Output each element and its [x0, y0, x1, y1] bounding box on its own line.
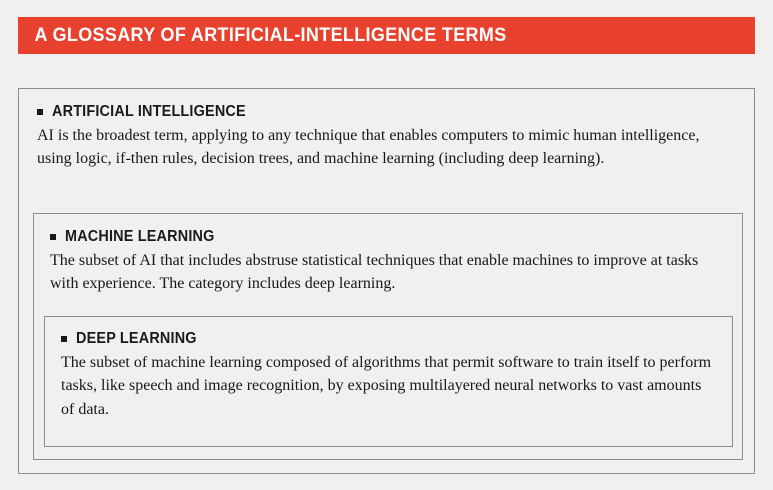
machine-learning-description: The subset of AI that includes abstruse …	[50, 249, 722, 296]
square-bullet-icon	[50, 234, 56, 240]
artificial-intelligence-description: AI is the broadest term, applying to any…	[37, 124, 737, 171]
deep-learning-entry: Deep Learning The subset of machine lear…	[61, 330, 716, 421]
deep-learning-heading-label: Deep Learning	[76, 330, 197, 348]
page-title: A Glossary of Artificial-Intelligence Te…	[18, 24, 507, 47]
machine-learning-entry: Machine Learning The subset of AI that i…	[50, 228, 722, 296]
artificial-intelligence-box: Artificial Intelligence AI is the broade…	[18, 88, 755, 474]
glossary-title-banner: A Glossary of Artificial-Intelligence Te…	[18, 17, 755, 54]
machine-learning-box: Machine Learning The subset of AI that i…	[33, 213, 743, 460]
machine-learning-heading: Machine Learning	[50, 228, 722, 246]
deep-learning-description: The subset of machine learning composed …	[61, 351, 716, 421]
square-bullet-icon	[61, 336, 67, 342]
deep-learning-heading: Deep Learning	[61, 330, 716, 348]
artificial-intelligence-entry: Artificial Intelligence AI is the broade…	[37, 103, 737, 171]
square-bullet-icon	[37, 109, 43, 115]
machine-learning-heading-label: Machine Learning	[65, 228, 215, 246]
artificial-intelligence-heading: Artificial Intelligence	[37, 103, 737, 121]
deep-learning-box: Deep Learning The subset of machine lear…	[44, 316, 733, 447]
artificial-intelligence-heading-label: Artificial Intelligence	[52, 103, 246, 121]
